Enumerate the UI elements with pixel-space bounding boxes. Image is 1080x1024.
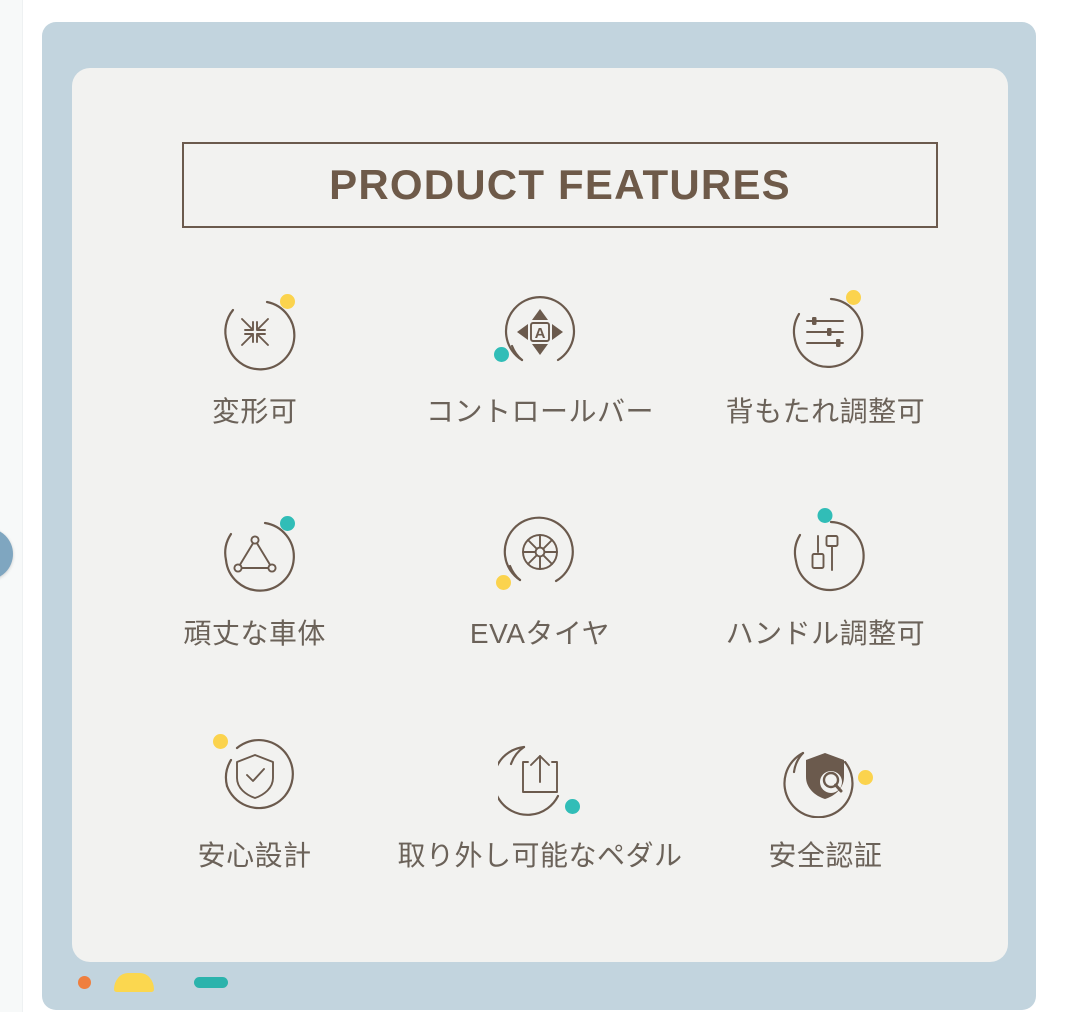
feature-label: 安全認証	[768, 834, 882, 874]
accent-dot	[494, 347, 509, 362]
feature-grid: 変形可 A	[112, 290, 968, 956]
accent-dot	[280, 294, 295, 309]
feature-label: 変形可	[212, 390, 298, 430]
product-features-page: PRODUCT FEATURES	[0, 0, 1080, 1024]
feature-label: 頑丈な車体	[183, 612, 326, 652]
feature-label: コントロールバー	[426, 390, 654, 430]
triangle-frame-icon	[213, 512, 297, 596]
feature-item-safe-design[interactable]: 安心設計	[112, 734, 397, 956]
feature-label: ハンドル調整可	[726, 612, 926, 652]
accent-dot	[818, 508, 833, 523]
feature-item-handlebar[interactable]: ハンドル調整可	[683, 512, 968, 734]
inner-panel: PRODUCT FEATURES	[72, 68, 1008, 962]
svg-text:A: A	[535, 325, 546, 342]
collapse-arrows-icon	[213, 290, 297, 374]
accent-dot	[280, 516, 295, 531]
confetti-cloud-icon	[114, 973, 154, 992]
page-title-box: PRODUCT FEATURES	[182, 142, 938, 228]
wheel-spokes-icon	[498, 512, 582, 596]
feature-label: 取り外し可能なペダル	[397, 834, 682, 874]
dpad-a-button-icon: A	[498, 290, 582, 374]
upload-box-icon	[498, 734, 582, 818]
outer-card: PRODUCT FEATURES	[42, 22, 1036, 1010]
accent-dot	[565, 799, 580, 814]
feature-label: 安心設計	[198, 834, 312, 874]
feature-item-control-bar[interactable]: A コントロールバー	[397, 290, 682, 512]
feature-item-removable-pedal[interactable]: 取り外し可能なペダル	[397, 734, 682, 956]
feature-item-collapse[interactable]: 変形可	[112, 290, 397, 512]
vertical-sliders-icon	[783, 512, 867, 596]
accent-dot	[496, 575, 511, 590]
shield-check-icon	[213, 734, 297, 818]
page-title: PRODUCT FEATURES	[329, 161, 791, 209]
decorative-confetti	[42, 962, 1036, 1010]
horizontal-sliders-icon	[783, 290, 867, 374]
feature-item-sturdy-frame[interactable]: 頑丈な車体	[112, 512, 397, 734]
feature-item-safety-certified[interactable]: 安全認証	[683, 734, 968, 956]
shield-search-icon	[783, 734, 867, 818]
feature-label: EVAタイヤ	[470, 612, 610, 652]
confetti-bar-icon	[194, 977, 228, 988]
accent-dot	[213, 734, 228, 749]
feature-item-eva-tire[interactable]: EVAタイヤ	[397, 512, 682, 734]
feature-item-backrest[interactable]: 背もたれ調整可	[683, 290, 968, 512]
confetti-dot-icon	[78, 976, 91, 989]
accent-dot	[858, 770, 873, 785]
page-gutter-strip	[0, 0, 23, 1012]
feature-label: 背もたれ調整可	[726, 390, 926, 430]
